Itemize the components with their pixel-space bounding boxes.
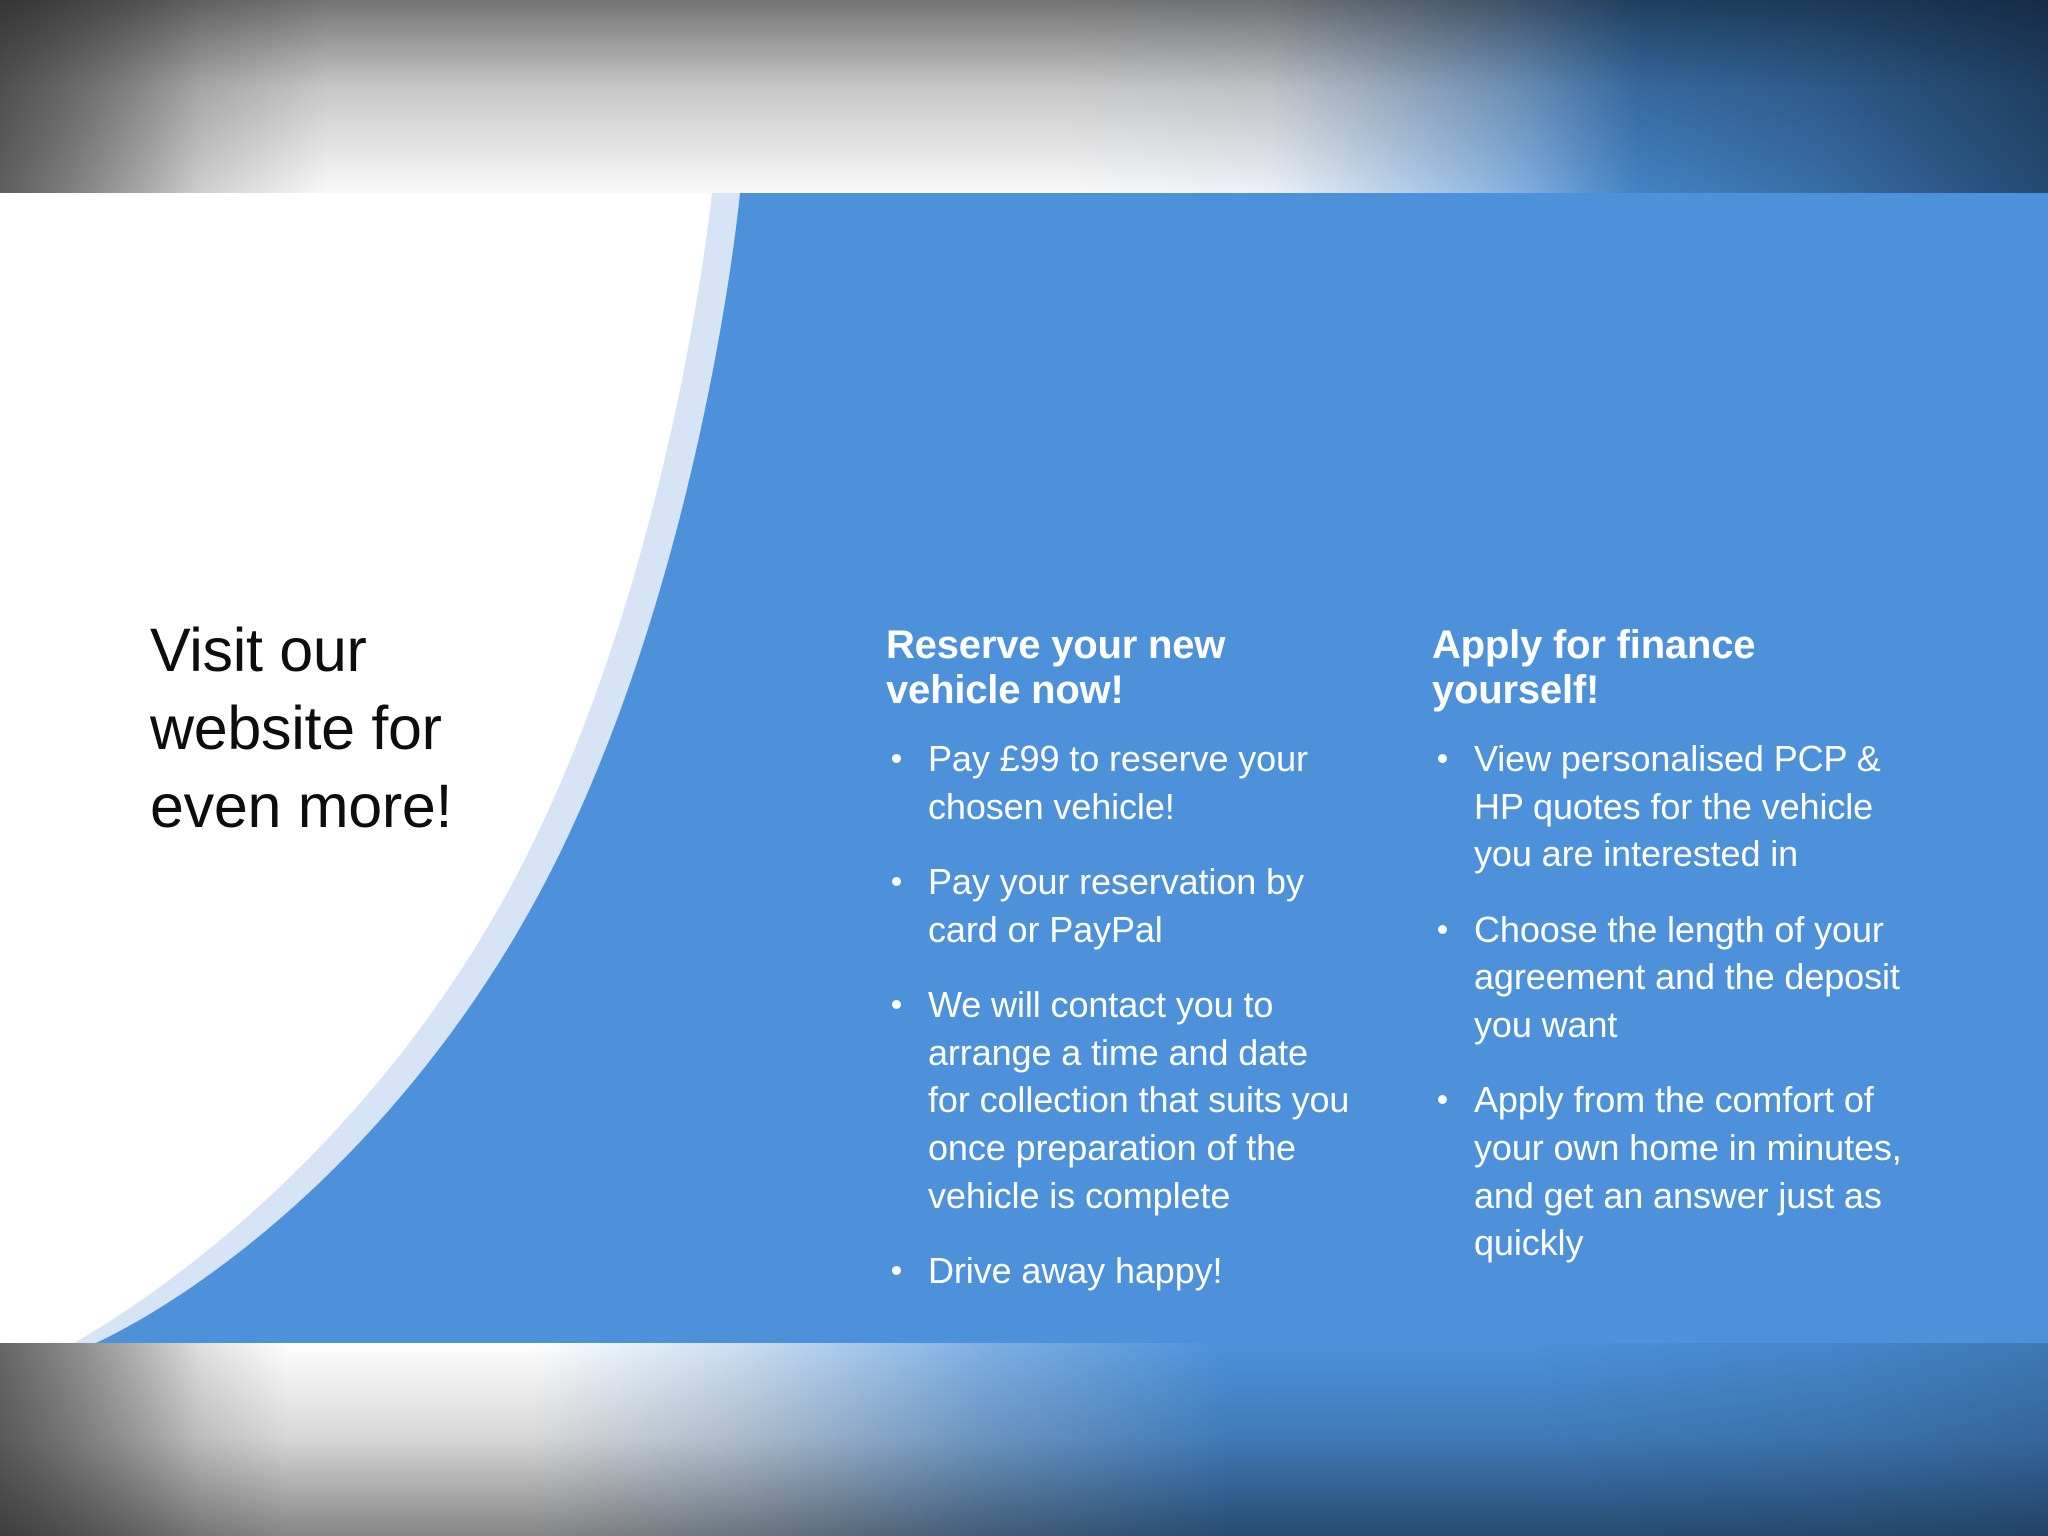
list-item-label: Apply from the comfort of your own home … <box>1474 1076 1902 1266</box>
slide-viewer: Visit our website for even more! Reserve… <box>0 0 2048 1536</box>
letterbox-band-bottom-left-vignette <box>0 1341 200 1536</box>
letterbox-band-bottom-right-vignette <box>1528 1341 2048 1536</box>
page-title: Visit our website for even more! <box>150 611 550 845</box>
column-reserve: Reserve your new vehicle now! Pay £99 to… <box>886 623 1356 1295</box>
list-item-label: View personalised PCP & HP quotes for th… <box>1474 735 1902 878</box>
column-reserve-bullet-list: Pay £99 to reserve your chosen vehicle! … <box>886 735 1356 1294</box>
letterbox-band-bottom <box>0 1341 2048 1536</box>
list-item-label: Drive away happy! <box>928 1247 1356 1295</box>
column-finance-heading: Apply for finance yourself! <box>1432 623 1902 713</box>
column-finance: Apply for finance yourself! View persona… <box>1432 623 1902 1267</box>
list-item-label: Pay £99 to reserve your chosen vehicle! <box>928 735 1356 830</box>
list-item: Pay £99 to reserve your chosen vehicle! <box>886 735 1356 830</box>
list-item: Choose the length of your agreement and … <box>1432 906 1902 1049</box>
bullet-dot-icon <box>892 1000 901 1009</box>
bullet-dot-icon <box>1438 754 1447 763</box>
list-item: We will contact you to arrange a time an… <box>886 981 1356 1219</box>
list-item: Apply from the comfort of your own home … <box>1432 1076 1902 1266</box>
column-finance-bullet-list: View personalised PCP & HP quotes for th… <box>1432 735 1902 1266</box>
list-item-label: Pay your reservation by card or PayPal <box>928 858 1356 953</box>
bullet-dot-icon <box>892 754 901 763</box>
list-item: Pay your reservation by card or PayPal <box>886 858 1356 953</box>
letterbox-band-top-right-vignette <box>1528 0 2048 195</box>
letterbox-band-top <box>0 0 2048 195</box>
slide-canvas: Visit our website for even more! Reserve… <box>0 193 2048 1343</box>
bullet-dot-icon <box>1438 1095 1447 1104</box>
column-reserve-heading: Reserve your new vehicle now! <box>886 623 1356 713</box>
list-item-label: Choose the length of your agreement and … <box>1474 906 1902 1049</box>
list-item-label: We will contact you to arrange a time an… <box>928 981 1356 1219</box>
bullet-dot-icon <box>892 877 901 886</box>
bullet-dot-icon <box>892 1266 901 1275</box>
list-item: Drive away happy! <box>886 1247 1356 1295</box>
list-item: View personalised PCP & HP quotes for th… <box>1432 735 1902 878</box>
bullet-dot-icon <box>1438 925 1447 934</box>
letterbox-band-top-left-vignette <box>0 0 200 195</box>
